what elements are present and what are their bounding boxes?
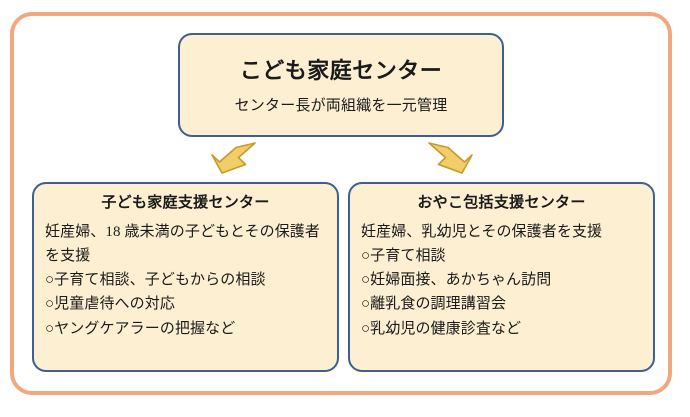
center-card-kodomo-katei: こども家庭センター センター長が両組織を一元管理 — [178, 33, 504, 137]
center-card-title: こども家庭センター — [240, 58, 443, 86]
list-item: ○子育て相談 — [361, 244, 642, 268]
diagram-canvas: こども家庭センター センター長が両組織を一元管理 子ども家庭支援センター 妊産婦… — [0, 0, 690, 417]
list-item: ○児童虐待への対応 — [45, 292, 326, 316]
right-card-title: おやこ包括支援センター — [361, 193, 642, 213]
list-item: ○子育て相談、子どもからの相談 — [45, 268, 326, 292]
list-item: ○離乳食の調理講習会 — [361, 292, 642, 316]
list-item: ○乳幼児の健康診査など — [361, 317, 642, 341]
list-item: ○ヤングケアラーの把握など — [45, 317, 326, 341]
list-item: ○妊婦面接、あかちゃん訪問 — [361, 268, 642, 292]
support-card-kodomo-katei-shien: 子ども家庭支援センター 妊産婦、18 歳未満の子どもとその保護者を支援 ○子育て… — [32, 182, 339, 372]
right-card-description: 妊産婦、乳幼児とその保護者を支援 — [361, 220, 642, 244]
right-card-body: 妊産婦、乳幼児とその保護者を支援 ○子育て相談 ○妊婦面接、あかちゃん訪問 ○離… — [361, 220, 642, 341]
left-card-body: 妊産婦、18 歳未満の子どもとその保護者を支援 ○子育て相談、子どもからの相談 … — [45, 220, 326, 341]
left-card-title: 子ども家庭支援センター — [45, 193, 326, 213]
center-card-subtitle: センター長が両組織を一元管理 — [235, 97, 448, 117]
support-card-oyako-hokatsu-shien: おやこ包括支援センター 妊産婦、乳幼児とその保護者を支援 ○子育て相談 ○妊婦面… — [348, 182, 655, 372]
left-card-description: 妊産婦、18 歳未満の子どもとその保護者を支援 — [45, 220, 326, 269]
